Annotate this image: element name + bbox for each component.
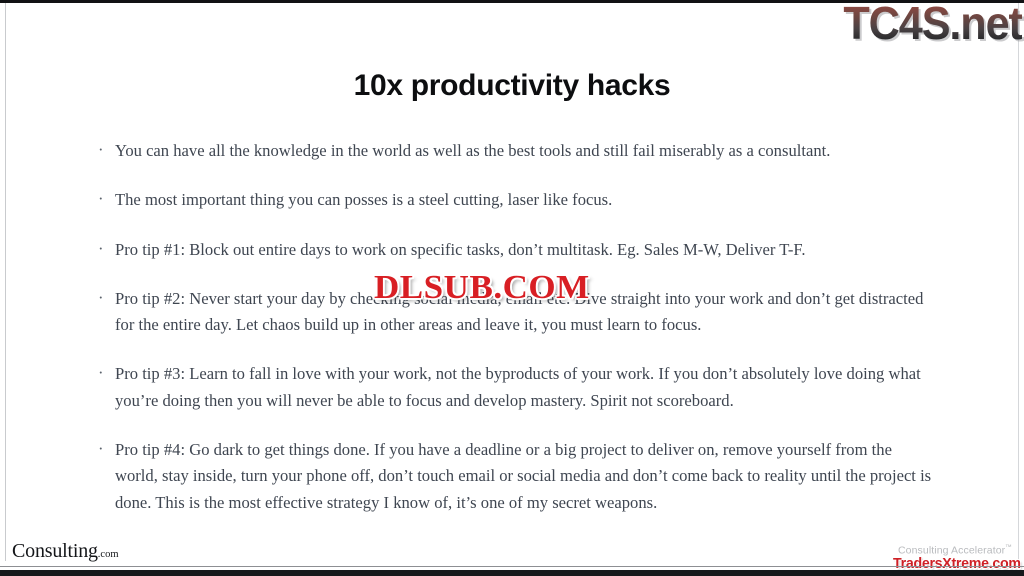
slide-bottom-border (0, 570, 1024, 576)
tc4s-watermark: TC4S.net (844, 0, 1022, 50)
list-item: · Pro tip #4: Go dark to get things done… (96, 437, 932, 516)
footer-separator (0, 566, 1024, 567)
bullet-marker-icon: · (98, 285, 104, 311)
consulting-logo-name: Consulting (12, 540, 98, 562)
consulting-logo: Consulting.com (12, 540, 119, 563)
list-item-text: Pro tip #3: Learn to fall in love with y… (115, 364, 921, 409)
bullet-marker-icon: · (98, 360, 104, 386)
list-item-text: The most important thing you can posses … (115, 190, 612, 209)
list-item-text: Pro tip #1: Block out entire days to wor… (115, 240, 805, 259)
list-item: · You can have all the knowledge in the … (96, 138, 932, 164)
bullet-marker-icon: · (98, 436, 104, 462)
consulting-logo-tld: .com (98, 549, 119, 560)
list-item-text: You can have all the knowledge in the wo… (115, 141, 830, 160)
slide-canvas: TC4S.net TC4S.net 10x productivity hacks… (0, 0, 1024, 576)
list-item: · Pro tip #1: Block out entire days to w… (96, 237, 932, 263)
consulting-accelerator-mark: Consulting Accelerator™ (898, 544, 1012, 557)
bullet-marker-icon: · (98, 137, 104, 163)
bullet-marker-icon: · (98, 236, 104, 262)
trademark-icon: ™ (1005, 544, 1012, 551)
bullet-marker-icon: · (98, 186, 104, 212)
list-item: · The most important thing you can posse… (96, 187, 932, 213)
bullet-list: · You can have all the knowledge in the … (96, 138, 932, 516)
page-title: 10x productivity hacks (0, 69, 1024, 103)
dlsub-watermark: DLSUB.COM (374, 269, 590, 307)
list-item-text: Pro tip #4: Go dark to get things done. … (115, 440, 931, 512)
consulting-accelerator-label: Consulting Accelerator (898, 545, 1005, 557)
list-item: · Pro tip #3: Learn to fall in love with… (96, 361, 932, 414)
